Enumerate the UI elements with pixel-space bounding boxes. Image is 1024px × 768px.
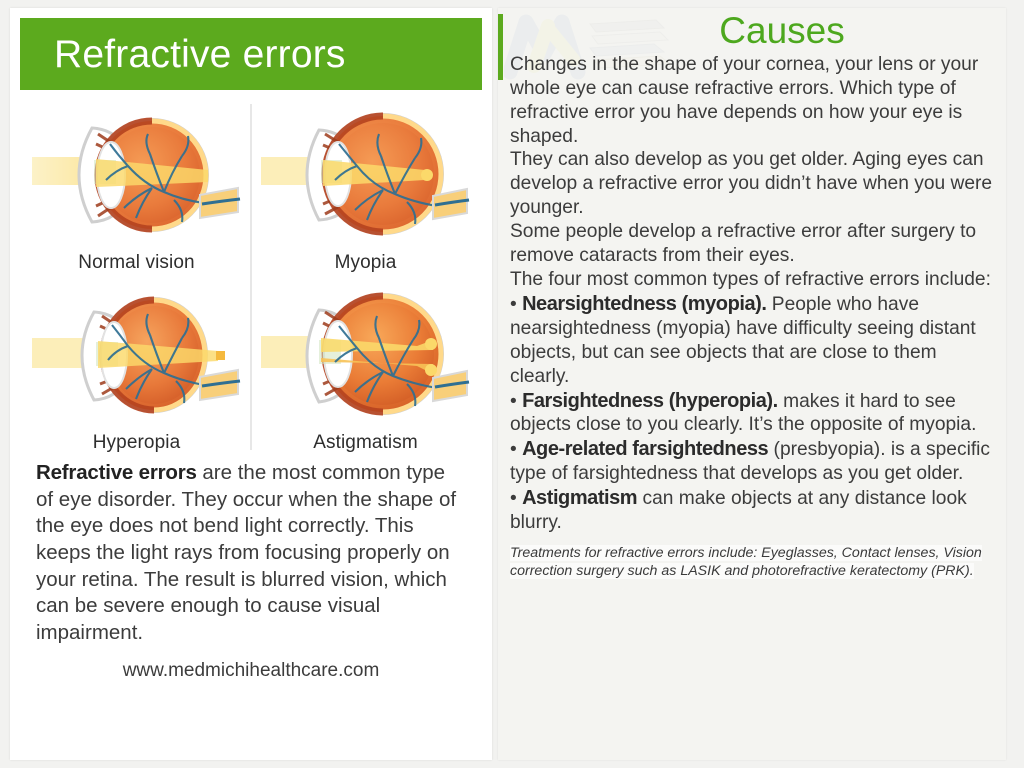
causes-paragraph-4: The four most common types of refractive… xyxy=(510,268,998,292)
bullet-marker: • xyxy=(510,391,517,412)
bullet-astigmatism: • Astigmatism can make objects at any di… xyxy=(510,486,998,535)
right-panel: Causes Changes in the shape of your corn… xyxy=(498,8,1006,760)
eye-diagram-grid: Normal vision xyxy=(22,96,480,456)
eye-diagram-hyperopia-icon xyxy=(32,280,242,430)
page-title: Refractive errors xyxy=(54,35,346,74)
page-title-bar: Refractive errors xyxy=(20,18,482,90)
bullet-farsightedness: • Farsightedness (hyperopia). makes it h… xyxy=(510,389,998,438)
causes-body: Changes in the shape of your cornea, you… xyxy=(498,51,1006,581)
bullet-marker: • xyxy=(510,488,517,509)
left-panel: Refractive errors xyxy=(10,8,492,760)
diagram-cell-astigmatism: Astigmatism xyxy=(251,276,480,456)
eye-diagram-myopia-icon xyxy=(261,100,471,250)
diagram-cell-myopia: Myopia xyxy=(251,96,480,276)
bullet-title: Nearsightedness (myopia). xyxy=(522,293,766,315)
bullet-title: Astigmatism xyxy=(522,487,637,509)
focal-point-astigmatism-upper xyxy=(425,338,437,350)
bullet-title: Farsightedness (hyperopia). xyxy=(522,390,778,412)
bullet-title: Age-related farsightedness xyxy=(522,438,768,460)
website-url[interactable]: www.medmichihealthcare.com xyxy=(10,660,492,682)
diagram-label-myopia: Myopia xyxy=(335,252,397,274)
causes-paragraph-3: Some people develop a refractive error a… xyxy=(510,220,998,268)
eye-diagram-astigmatism-icon xyxy=(261,280,471,430)
causes-paragraph-1: Changes in the shape of your cornea, you… xyxy=(510,53,998,149)
bullet-nearsightedness: • Nearsightedness (myopia). People who h… xyxy=(510,292,998,389)
causes-paragraph-2: They can also develop as you get older. … xyxy=(510,148,998,220)
treatments-note-text: Treatments for refractive errors include… xyxy=(510,545,982,579)
focal-point-hyperopia xyxy=(216,351,225,360)
bullet-marker: • xyxy=(510,439,517,460)
treatments-note: Treatments for refractive errors include… xyxy=(510,544,998,581)
diagram-vertical-divider xyxy=(251,104,252,450)
diagram-cell-hyperopia: Hyperopia xyxy=(22,276,251,456)
diagram-label-hyperopia: Hyperopia xyxy=(93,432,181,454)
causes-title: Causes xyxy=(558,8,1006,51)
left-body-text: Refractive errors are the most common ty… xyxy=(36,460,466,646)
infographic-slide: Refractive errors xyxy=(0,0,1024,768)
bullet-age-related-farsightedness: • Age-related farsightedness (presbyopia… xyxy=(510,437,998,486)
bullet-marker: • xyxy=(510,294,517,315)
left-body-rest: are the most common type of eye disorder… xyxy=(36,461,456,644)
diagram-label-normal-vision: Normal vision xyxy=(78,252,194,274)
diagram-cell-normal-vision: Normal vision xyxy=(22,96,251,276)
focal-point-astigmatism-lower xyxy=(425,364,437,376)
eye-diagram-normal-icon xyxy=(32,100,242,250)
focal-point-myopia xyxy=(421,169,433,181)
diagram-label-astigmatism: Astigmatism xyxy=(313,432,418,454)
left-body-lead: Refractive errors xyxy=(36,461,197,484)
